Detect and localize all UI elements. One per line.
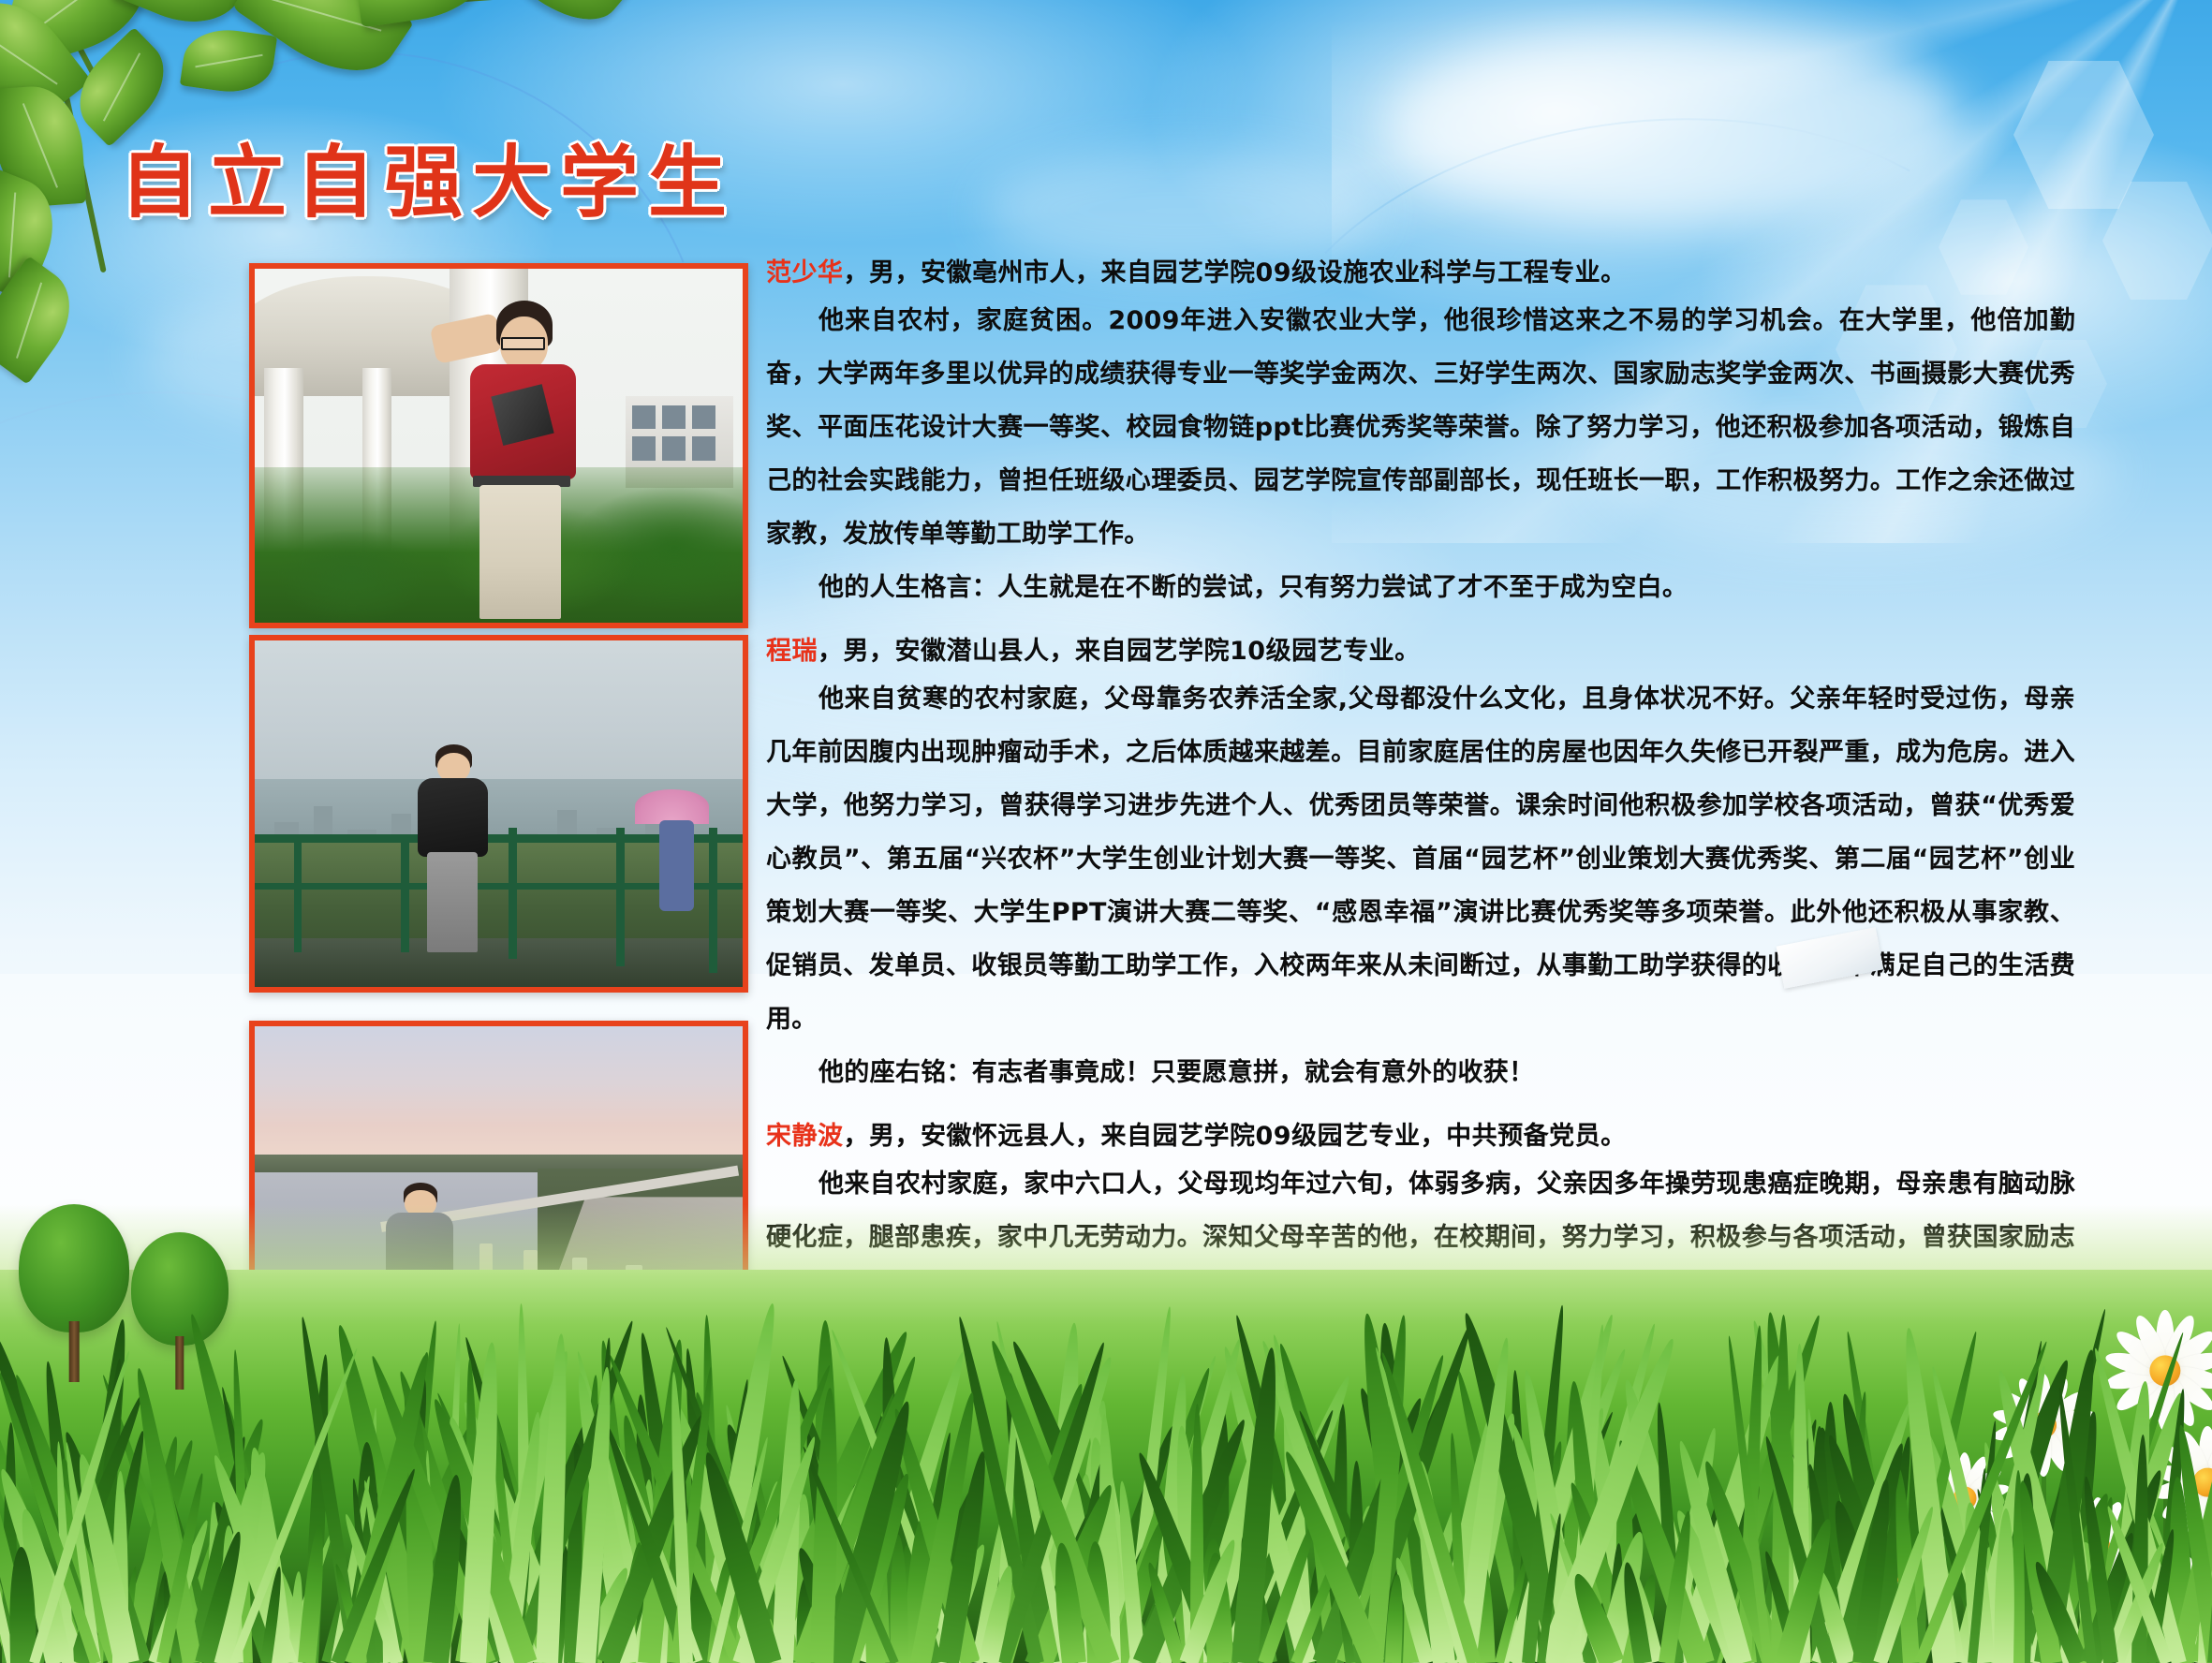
page-title: 自立自强大学生 (120, 120, 736, 233)
photo-cheng-rui (249, 635, 748, 993)
profile-lead-3: 宋静波，男，安徽怀远县人，来自园艺学院09级园艺专业，中共预备党员。 (766, 1116, 2075, 1157)
photo-fan-shaohua (249, 263, 748, 628)
student-lead-rest-2: ，男，安徽潜山县人，来自园艺学院10级园艺专业。 (818, 637, 1421, 666)
student-lead-rest-1: ，男，安徽亳州市人，来自园艺学院09级设施农业科学与工程专业。 (844, 258, 1627, 287)
tree-trunk (69, 1321, 80, 1382)
khaki-pants (479, 485, 562, 619)
student-name-1: 范少华 (766, 258, 844, 287)
railing-post (709, 828, 717, 973)
poster-page: 自立自强大学生 (0, 0, 2212, 1663)
grass-band (0, 1270, 2212, 1663)
profile-lead-1: 范少华，男，安徽亳州市人，来自园艺学院09级设施农业科学与工程专业。 (766, 253, 2075, 294)
profile-motto-2: 他的座右铭：有志者事竟成！只要愿意拼，就会有意外的收获！ (766, 1046, 2075, 1099)
pink-umbrella (635, 789, 708, 824)
railing-post (294, 834, 302, 952)
cloud (1386, 28, 1967, 225)
profile-1: 范少华，男，安徽亳州市人，来自园艺学院09级设施农业科学与工程专业。 他来自农村… (766, 253, 2075, 614)
grey-pants (427, 852, 478, 952)
student-figure (411, 744, 499, 952)
tree (131, 1232, 229, 1390)
hazy-sky (255, 640, 743, 800)
dusk-sky (255, 1026, 743, 1169)
profile-body-2: 他来自贫寒的农村家庭，父母靠务农养活全家,父母都没什么文化，且身体状况不好。父亲… (766, 672, 2075, 1046)
student-name-2: 程瑞 (766, 637, 818, 666)
railing-post (401, 834, 408, 952)
tree-trunk (175, 1336, 184, 1390)
tree-crown (131, 1232, 229, 1346)
railing-post (509, 828, 517, 960)
glasses (501, 337, 545, 350)
student-lead-rest-3: ，男，安徽怀远县人，来自园艺学院09级园艺专业，中共预备党员。 (844, 1122, 1627, 1151)
black-shirt (418, 778, 488, 857)
profile-body-1: 他来自农村，家庭贫困。2009年进入安徽农业大学，他很珍惜这来之不易的学习机会。… (766, 294, 2075, 561)
umbrella-person (659, 820, 693, 910)
profile-motto-1: 他的人生格言：人生就是在不断的尝试，只有努力尝试了才不至于成为空白。 (766, 561, 2075, 614)
profile-2: 程瑞，男，安徽潜山县人，来自园艺学院10级园艺专业。 他来自贫寒的农村家庭，父母… (766, 631, 2075, 1099)
student-name-3: 宋静波 (766, 1122, 844, 1151)
student-figure (465, 301, 611, 619)
railing-post (616, 828, 625, 966)
profile-lead-2: 程瑞，男，安徽潜山县人，来自园艺学院10级园艺专业。 (766, 631, 2075, 672)
tree-crown (19, 1204, 129, 1332)
observation-deck (255, 938, 743, 987)
